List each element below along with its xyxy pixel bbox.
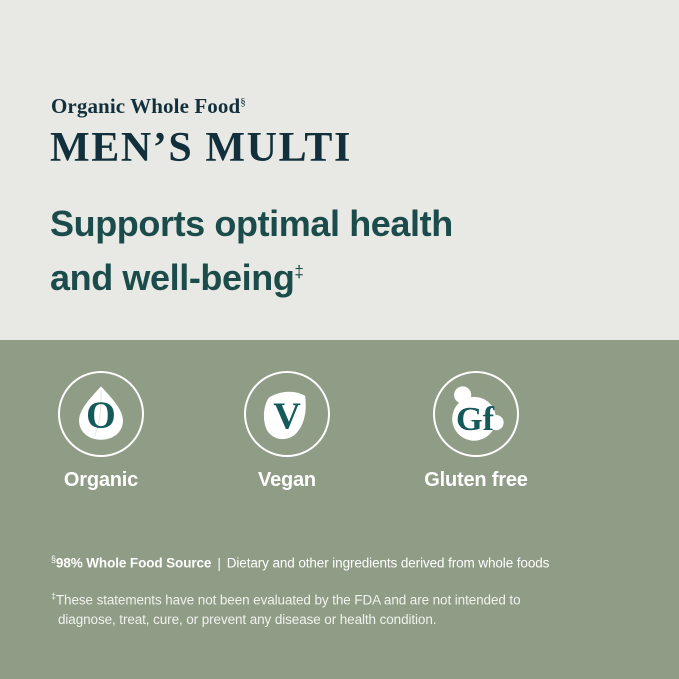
certifications-section: O Organic V Vegan (0, 340, 679, 679)
footnotes: §98% Whole Food Source|Dietary and other… (51, 554, 651, 630)
badge-gluten-free-ring: Gf (433, 371, 519, 457)
gluten-free-grain-gf-icon: Gf (435, 373, 517, 455)
footnote-fda-line-1: These statements have not been evaluated… (56, 592, 521, 607)
svg-text:V: V (273, 395, 301, 437)
footnote-strong-text: 98% Whole Food Source (56, 556, 211, 571)
badge-gluten-free-label: Gluten free (406, 469, 546, 492)
badge-row: O Organic V Vegan (0, 340, 679, 515)
badge-gluten-free: Gf Gluten free (406, 371, 546, 492)
claim-line-2: and well-being (50, 257, 294, 298)
claim-headline: Supports optimal health and well-being‡ (50, 200, 590, 302)
footnote-rest-text: Dietary and other ingredients derived fr… (227, 556, 550, 571)
footnote-fda-line-2: diagnose, treat, cure, or prevent any di… (51, 610, 611, 630)
badge-organic: O Organic (31, 371, 171, 492)
claim-footnote-mark: ‡ (294, 262, 303, 281)
footnote-separator: | (211, 556, 226, 571)
badge-vegan-ring: V (244, 371, 330, 457)
badge-organic-ring: O (58, 371, 144, 457)
svg-text:Gf: Gf (456, 400, 495, 438)
footnote-fda-disclaimer: ‡These statements have not been evaluate… (51, 586, 611, 631)
badge-organic-label: Organic (31, 469, 171, 492)
svg-text:O: O (86, 394, 116, 436)
claim-line-1: Supports optimal health (50, 203, 453, 244)
eyebrow-text: Organic Whole Food§ (51, 94, 246, 119)
eyebrow-footnote-mark: § (240, 96, 246, 108)
badge-vegan-label: Vegan (217, 469, 357, 492)
page-title: MEN’S MULTI (50, 126, 352, 170)
vegan-leaf-v-icon: V (246, 373, 328, 455)
badge-vegan: V Vegan (217, 371, 357, 492)
footnote-whole-food-source: §98% Whole Food Source|Dietary and other… (51, 554, 651, 571)
organic-leaf-o-icon: O (60, 373, 142, 455)
eyebrow-label: Organic Whole Food (51, 94, 240, 118)
header-section: Organic Whole Food§ MEN’S MULTI Supports… (0, 0, 679, 340)
product-info-panel: Organic Whole Food§ MEN’S MULTI Supports… (0, 0, 679, 679)
